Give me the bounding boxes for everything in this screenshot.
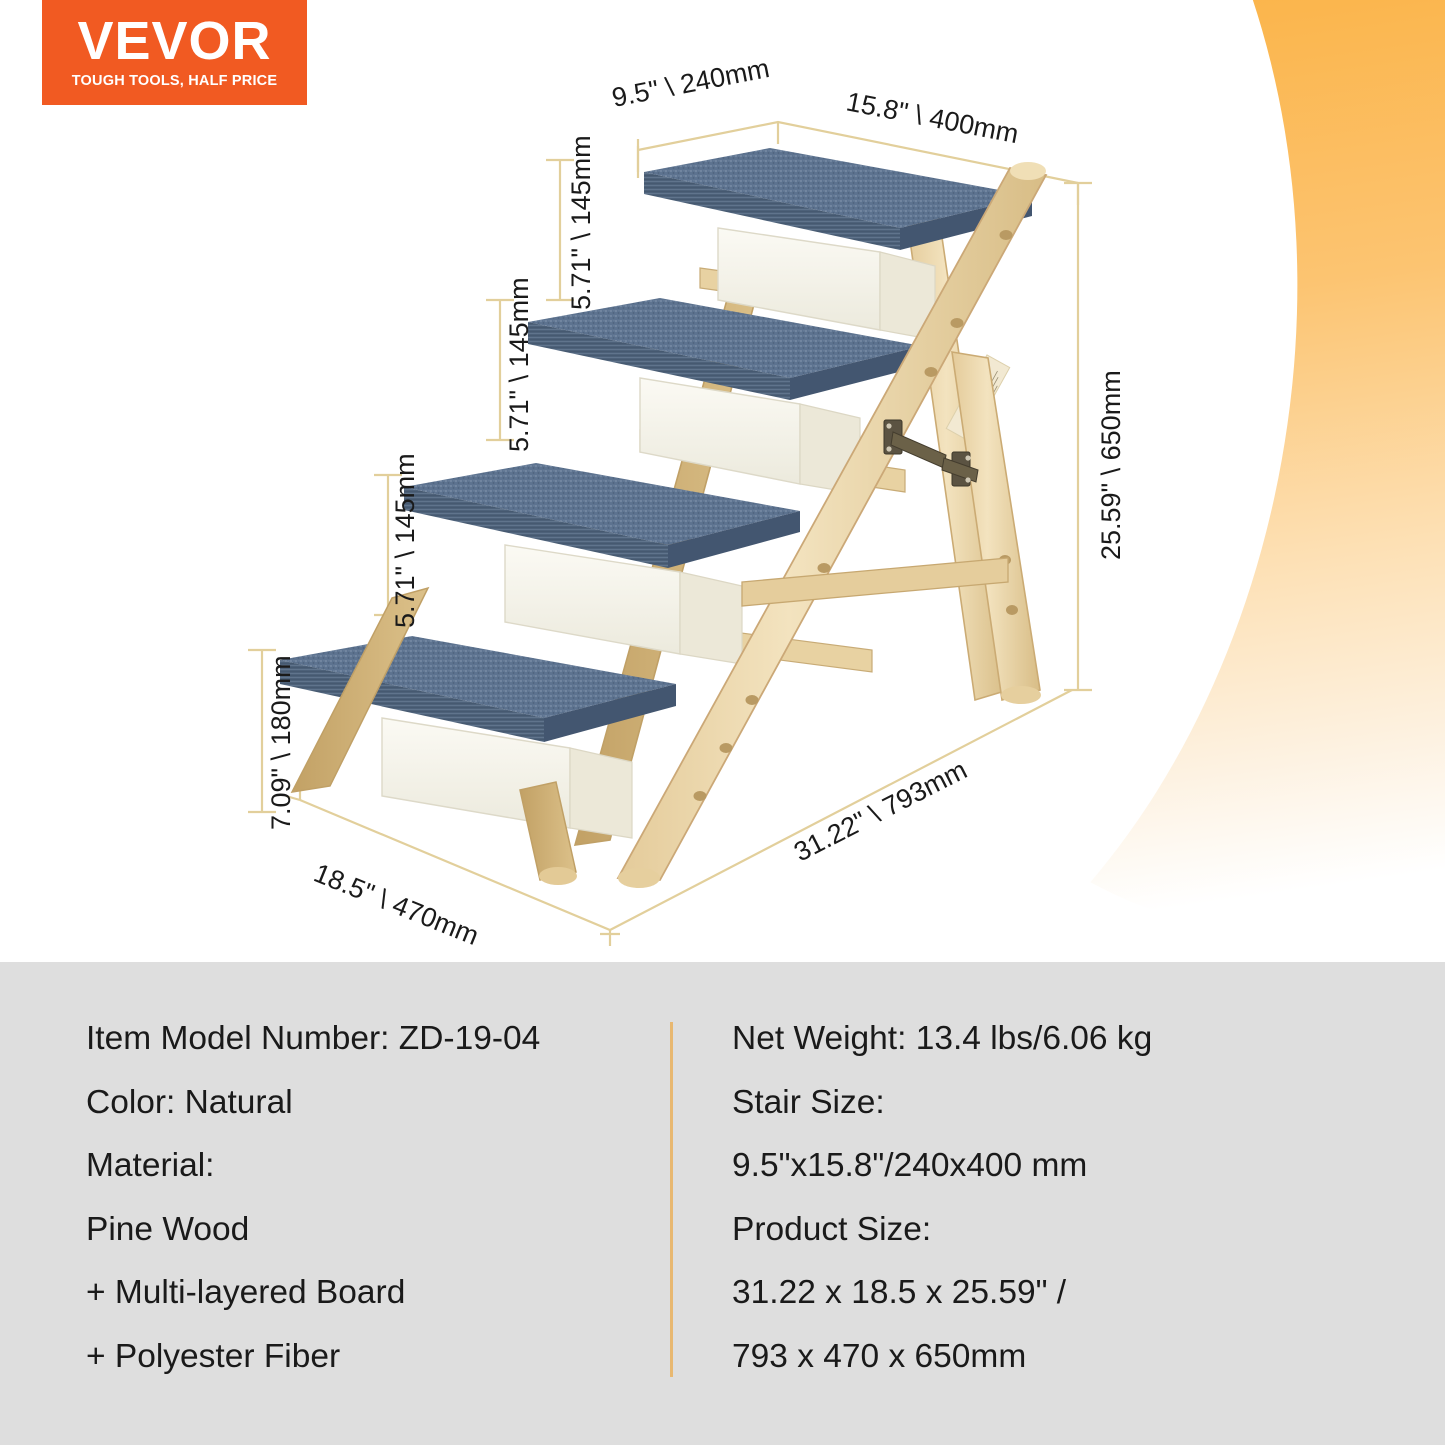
specification-panel: Item Model Number: ZD-19-04 Color: Natur… [0, 962, 1445, 1445]
product-diagram: VEVOR [0, 0, 1445, 962]
logo-tagline: TOUGH TOOLS, HALF PRICE [72, 73, 277, 89]
spec-stair-size-label: Stair Size: [732, 1086, 1445, 1120]
spec-product-size-metric: 793 x 470 x 650mm [732, 1340, 1445, 1374]
dim-bottom-rise: 7.09" \ 180mm [266, 655, 296, 830]
spec-column-divider [670, 1022, 673, 1377]
spec-net-weight: Net Weight: 13.4 lbs/6.06 kg [732, 1022, 1445, 1056]
step-2 [404, 463, 800, 664]
dim-rise-3: 5.71" \ 145mm [390, 453, 420, 628]
logo-wordmark: VEVOR [77, 16, 271, 67]
spec-product-size-label: Product Size: [732, 1213, 1445, 1247]
dim-rise-2: 5.71" \ 145mm [504, 277, 534, 452]
dim-rise-1: 5.71" \ 145mm [566, 135, 596, 310]
dim-total-depth: 31.22" \ 793mm [789, 754, 972, 867]
spec-item-model-number: Item Model Number: ZD-19-04 [86, 1022, 670, 1056]
spec-stair-size-value: 9.5"x15.8"/240x400 mm [732, 1149, 1445, 1183]
vevor-logo: VEVOR TOUGH TOOLS, HALF PRICE [42, 0, 307, 105]
spec-material-3: + Polyester Fiber [86, 1340, 670, 1374]
spec-material-2: + Multi-layered Board [86, 1276, 670, 1310]
spec-material-label: Material: [86, 1149, 670, 1183]
spec-column-left: Item Model Number: ZD-19-04 Color: Natur… [0, 962, 670, 1445]
spec-column-right: Net Weight: 13.4 lbs/6.06 kg Stair Size:… [670, 962, 1445, 1445]
dim-total-height: 25.59" \ 650mm [1096, 370, 1126, 560]
dim-total-width: 18.5" \ 470mm [310, 858, 483, 951]
spec-color: Color: Natural [86, 1086, 670, 1120]
spec-product-size-imperial: 31.22 x 18.5 x 25.59" / [732, 1276, 1445, 1310]
dim-step-depth: 9.5" \ 240mm [609, 53, 771, 113]
spec-material-1: Pine Wood [86, 1213, 670, 1247]
